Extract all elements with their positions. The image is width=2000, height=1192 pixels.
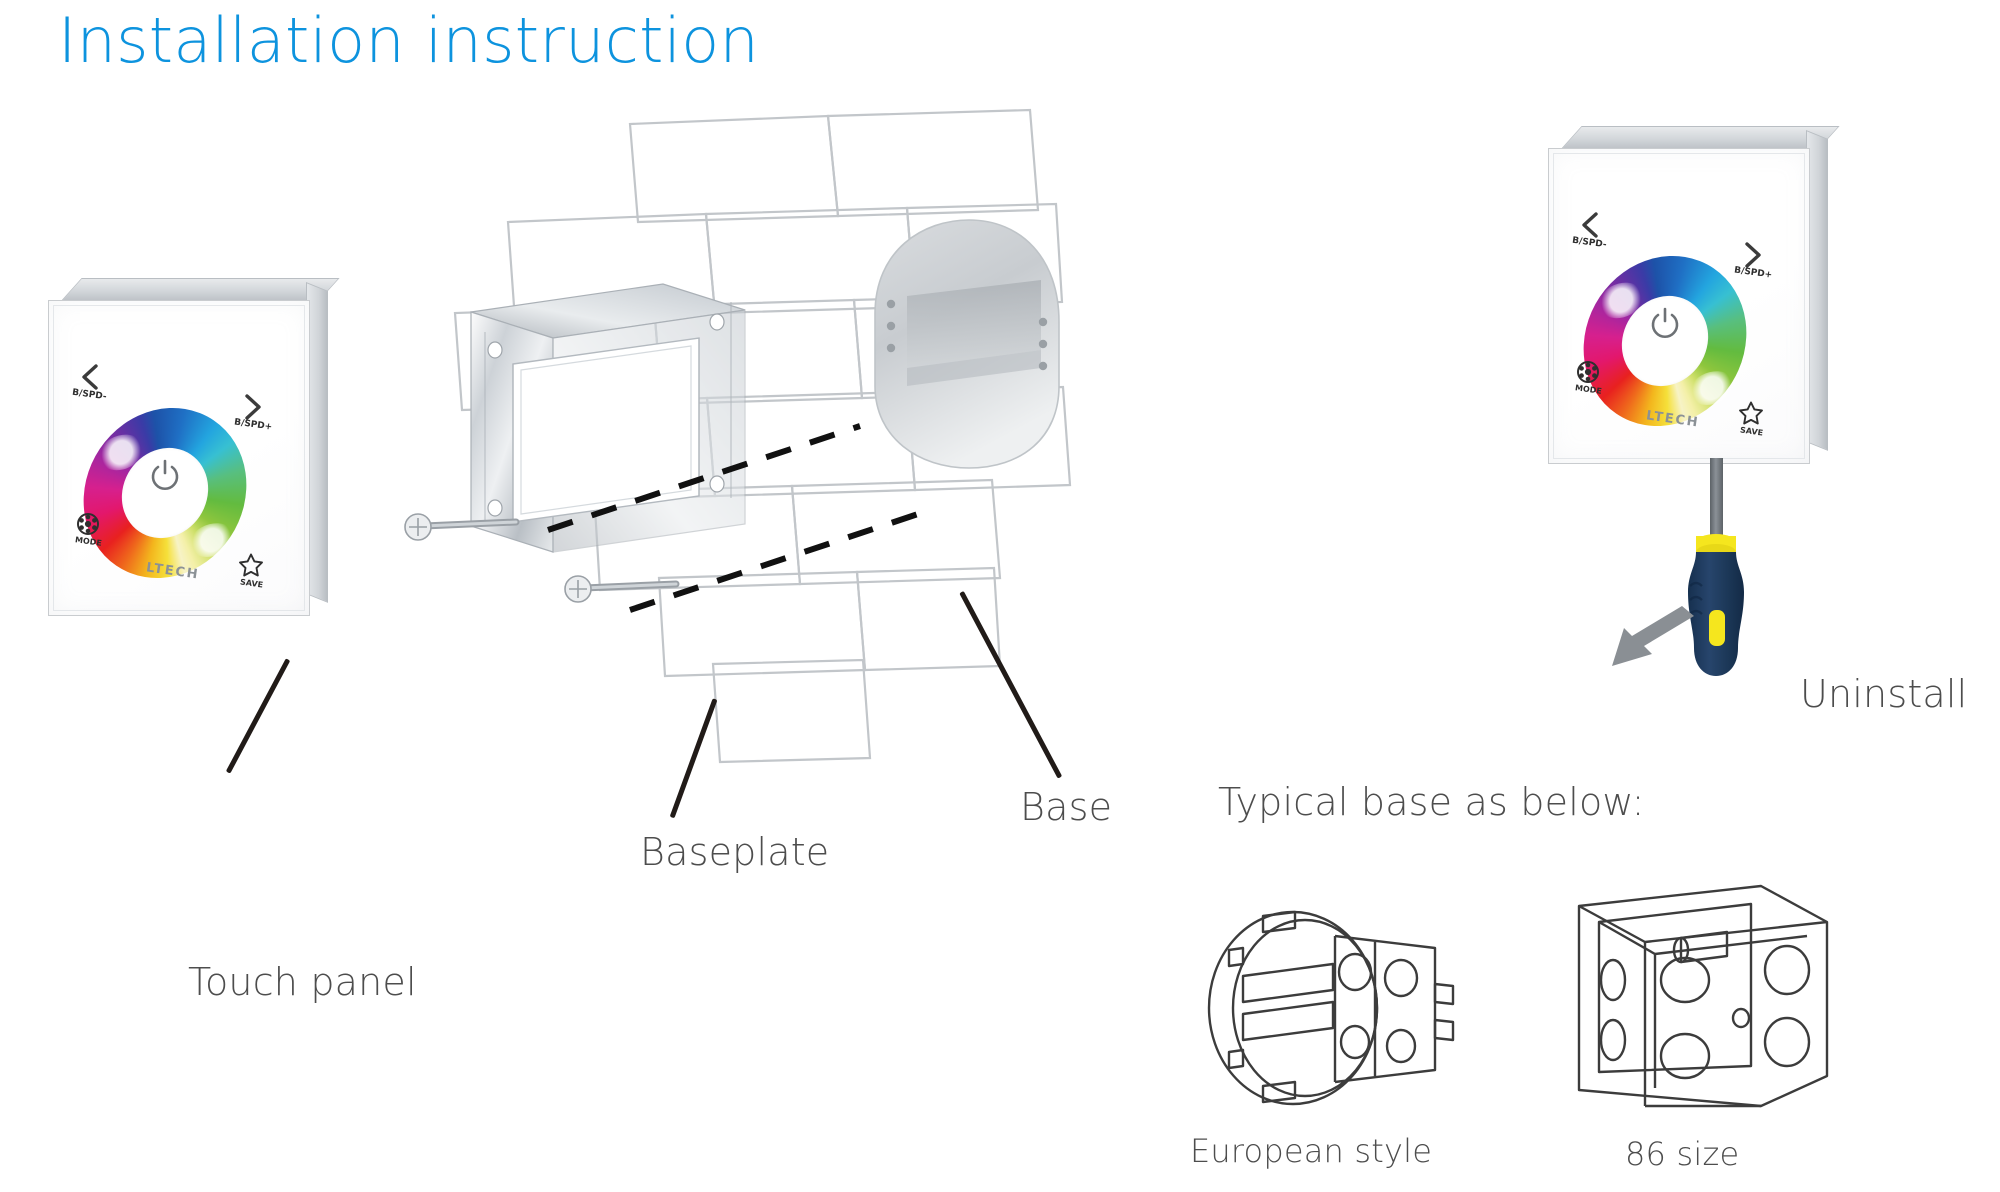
save-label: SAVE [239, 577, 263, 589]
panel-top-bevel [60, 278, 340, 302]
brightness-down-button[interactable]: B/SPD- [72, 362, 126, 408]
save-button[interactable]: SAVE [1736, 400, 1782, 444]
save-button[interactable]: SAVE [236, 552, 282, 596]
leader-touch-panel [226, 658, 291, 773]
uninstall-arrow [1612, 606, 1694, 666]
chevron-left-icon [1576, 210, 1606, 240]
alignment-guides [530, 360, 1090, 660]
mode-ball-icon [76, 512, 100, 536]
star-icon [238, 552, 264, 578]
power-icon[interactable] [1648, 306, 1682, 340]
page-title: Installation instruction [58, 4, 759, 77]
caption-86-size: 86 size [1625, 1135, 1739, 1173]
chevron-left-icon [76, 362, 106, 392]
mode-label: MODE [75, 535, 103, 548]
mode-button[interactable]: MODE [74, 512, 120, 556]
touch-panel-right[interactable]: B/SPD- B/SPD+ [1548, 148, 1810, 464]
mode-button[interactable]: MODE [1574, 360, 1620, 404]
caption-typical-base: Typical base as below: [1218, 780, 1645, 824]
european-style-base-illustration [1185, 880, 1485, 1140]
caption-european-style: European style [1190, 1132, 1432, 1170]
caption-touch-panel: Touch panel [188, 960, 417, 1004]
power-icon[interactable] [148, 458, 182, 492]
mounting-screw-upper [398, 508, 528, 560]
brightness-up-button[interactable]: B/SPD+ [1732, 240, 1786, 286]
installation-diagram: Installation instruction [0, 0, 2000, 1192]
star-icon [1738, 400, 1764, 426]
brightness-up-button[interactable]: B/SPD+ [232, 392, 286, 438]
caption-baseplate: Baseplate [640, 830, 829, 874]
caption-uninstall: Uninstall [1800, 672, 1967, 716]
touch-panel-left[interactable]: B/SPD- B/SPD+ [48, 300, 310, 616]
mode-label: MODE [1575, 383, 1603, 396]
86-size-base-illustration [1555, 860, 1855, 1120]
screwdriver-tool [1610, 470, 1840, 700]
brightness-down-button[interactable]: B/SPD- [1572, 210, 1626, 256]
caption-base: Base [1020, 785, 1112, 829]
panel-top-bevel [1560, 126, 1840, 150]
save-label: SAVE [1739, 425, 1763, 437]
mode-ball-icon [1576, 360, 1600, 384]
